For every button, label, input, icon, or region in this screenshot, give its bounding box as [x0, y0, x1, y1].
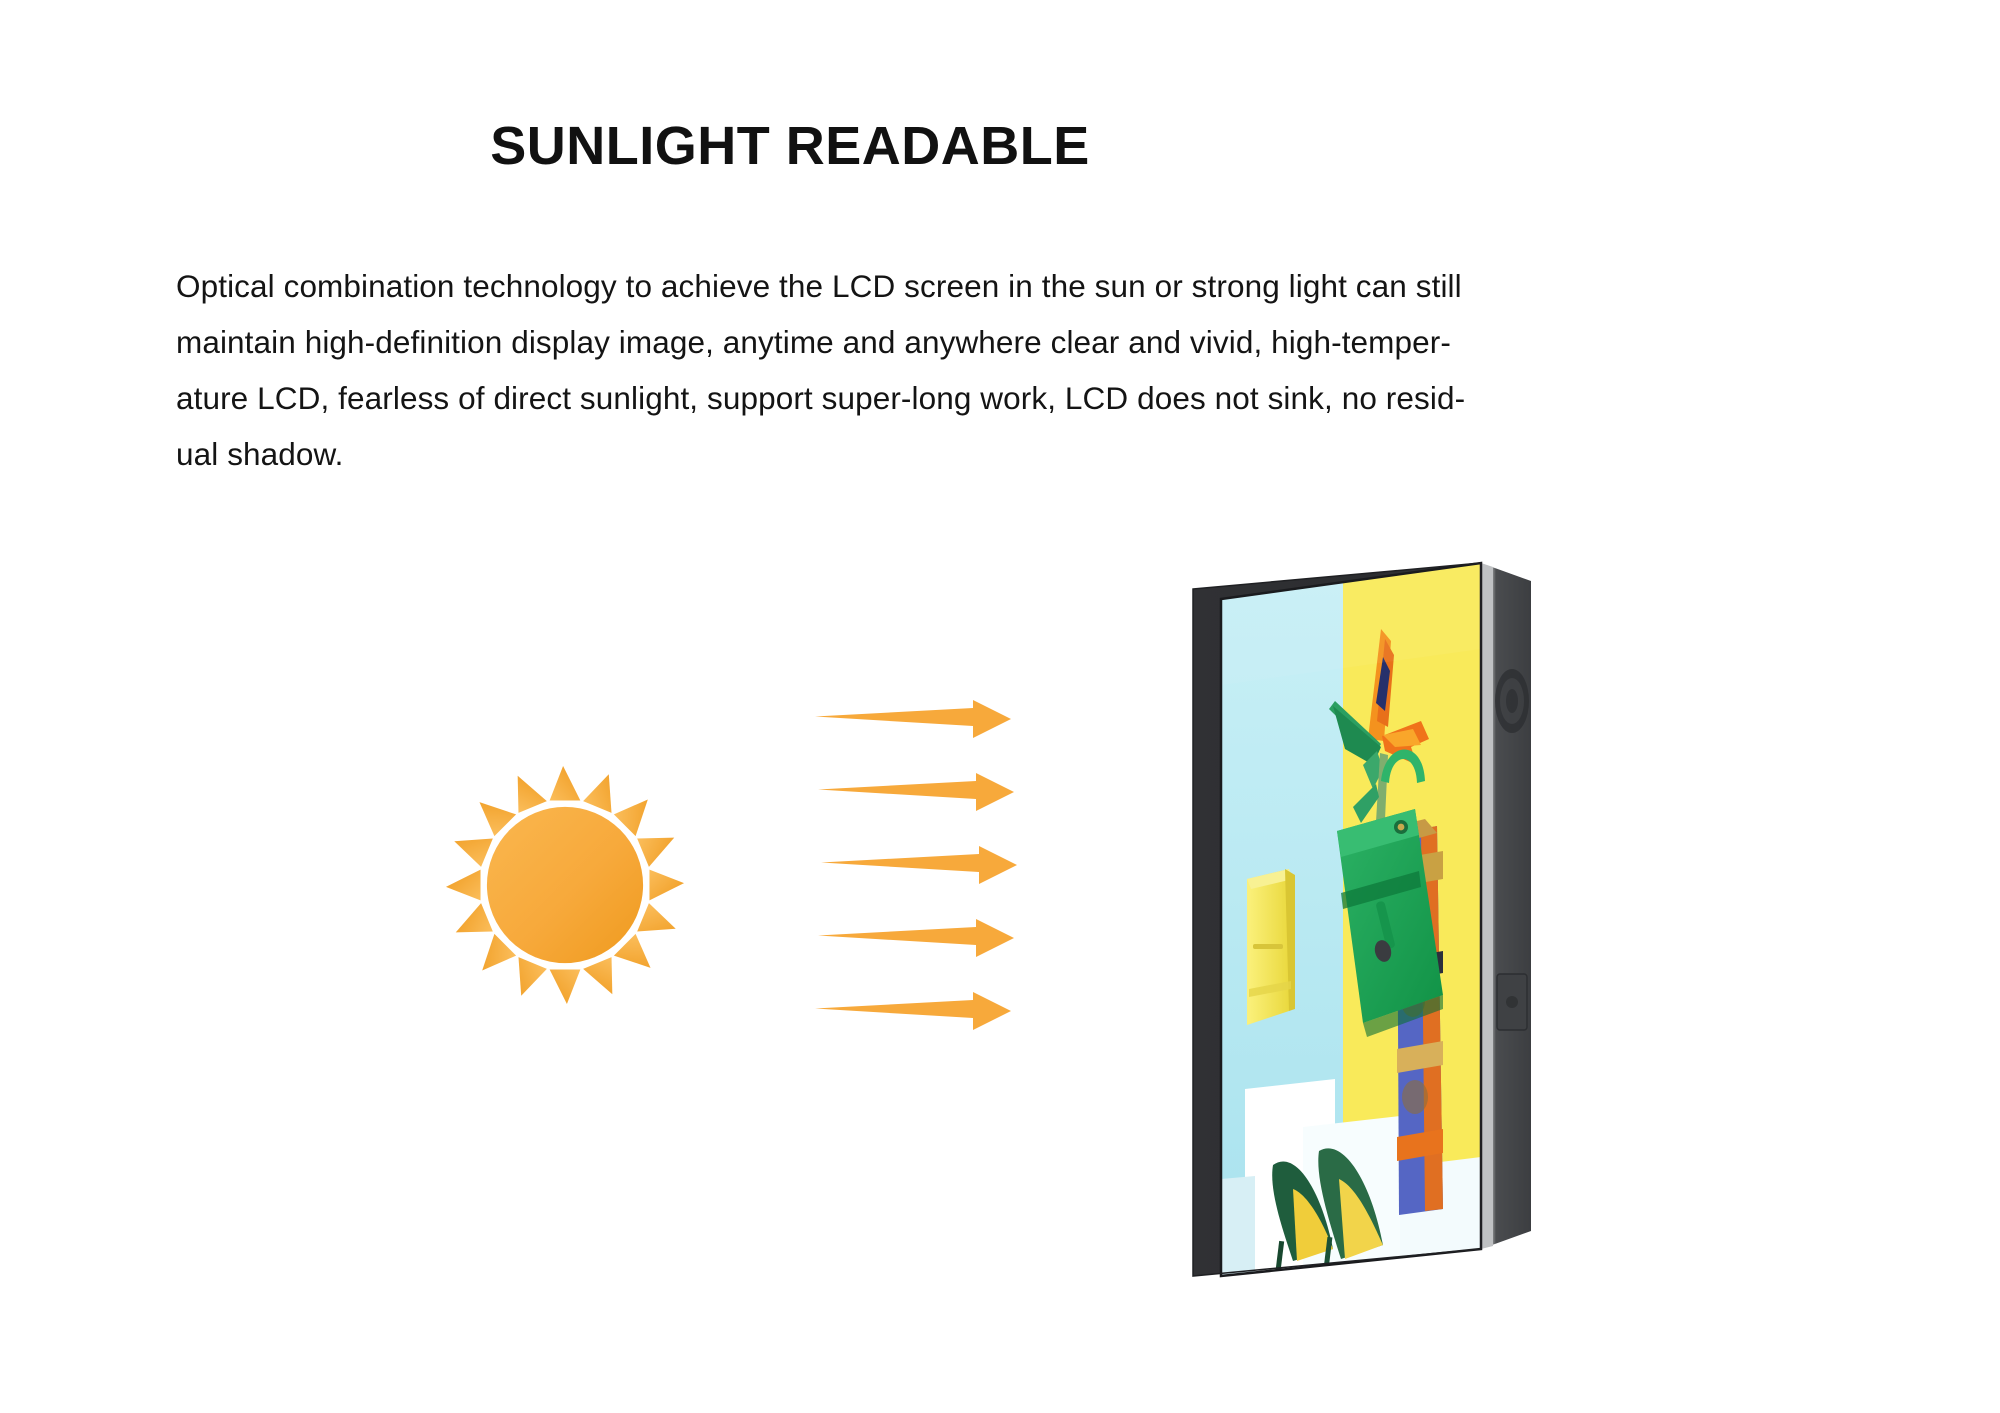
yellow-clutch — [1247, 869, 1295, 1025]
description-line: ature LCD, fearless of direct sunlight, … — [176, 370, 1466, 426]
device-side-panel — [1481, 563, 1531, 1249]
speaker-grille — [1495, 669, 1529, 733]
sun-icon — [437, 757, 693, 1013]
description-paragraph: Optical combination technology to achiev… — [176, 258, 1466, 482]
wall-mounted-lcd-display — [1185, 489, 1543, 1306]
sunlight-arrow — [815, 700, 1011, 738]
side-button — [1497, 974, 1527, 1030]
sunlight-arrow — [818, 773, 1014, 811]
sunlight-arrow — [815, 992, 1011, 1030]
sunlight-arrow — [821, 846, 1017, 884]
sunlight-arrows — [815, 700, 1055, 1060]
description-line: ual shadow. — [176, 426, 1466, 482]
sunlight-arrow — [818, 919, 1014, 957]
lcd-screen-content — [1215, 555, 1489, 1289]
page-title: SUNLIGHT READABLE — [0, 118, 1580, 175]
description-line: Optical combination technology to achiev… — [176, 258, 1466, 314]
description-line: maintain high-definition display image, … — [176, 314, 1466, 370]
